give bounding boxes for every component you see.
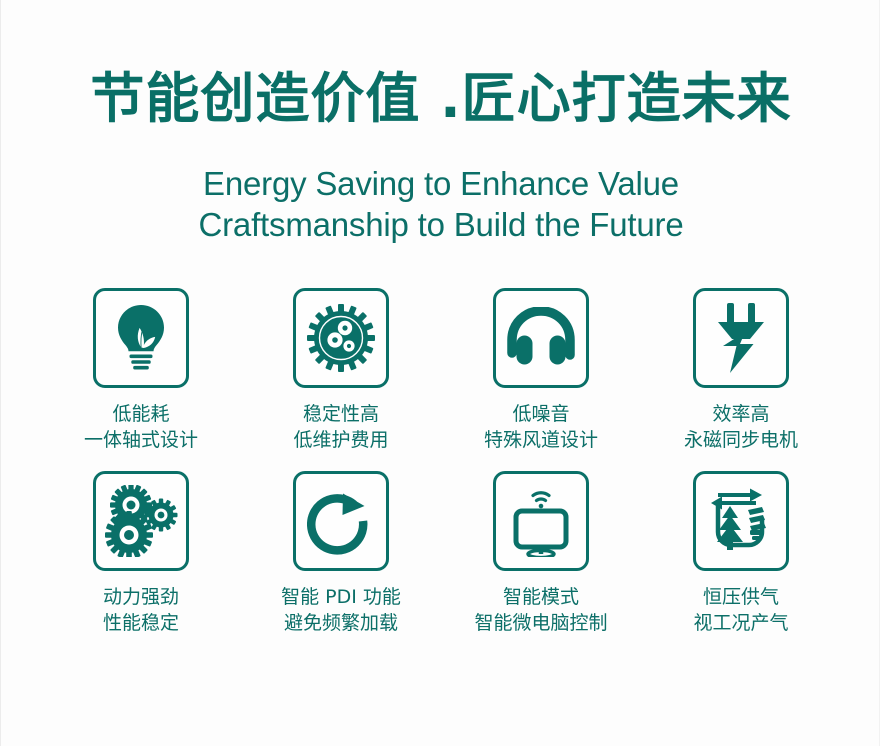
feature-item: 智能 PDI 功能 避免频繁加载 xyxy=(241,471,441,636)
icon-box xyxy=(693,288,789,388)
feature-label: 动力强劲 性能稳定 xyxy=(103,584,179,636)
icon-box xyxy=(93,471,189,571)
feature-label-line-1: 效率高 xyxy=(712,403,769,425)
feature-label-line-1: 动力强劲 xyxy=(103,586,179,608)
three-gears-icon xyxy=(103,485,179,557)
page-headline-chinese: 节能创造价值 .匠心打造未来 xyxy=(1,66,880,132)
feature-label-line-1: 智能 PDI 功能 xyxy=(281,586,401,608)
watermark-fragment xyxy=(739,14,751,24)
icon-box xyxy=(693,471,789,571)
feature-label-line-1: 低能耗 xyxy=(112,403,169,425)
refresh-circle-arrow-icon xyxy=(307,487,375,555)
lightbulb-leaf-icon xyxy=(110,303,172,373)
watermark-fragment xyxy=(235,14,247,24)
feature-label-line-2: 低维护费用 xyxy=(293,427,388,453)
feature-label: 稳定性高 低维护费用 xyxy=(293,401,388,453)
tree-cfl-bulb-cycle-icon xyxy=(706,484,776,558)
feature-label: 低噪音 特殊风道设计 xyxy=(484,401,598,453)
icon-box xyxy=(293,288,389,388)
feature-item: 动力强劲 性能稳定 xyxy=(41,471,241,636)
icon-box xyxy=(93,288,189,388)
watermark-fragment xyxy=(151,14,163,24)
headphones-icon xyxy=(506,307,576,369)
icon-box xyxy=(493,288,589,388)
feature-label: 低能耗 一体轴式设计 xyxy=(84,401,198,453)
headline-english-line-1: Energy Saving to Enhance Value xyxy=(1,163,880,204)
power-plug-lightning-icon xyxy=(710,302,772,374)
top-watermark-strip xyxy=(151,10,751,28)
feature-label: 效率高 永磁同步电机 xyxy=(684,401,798,453)
feature-label: 恒压供气 视工况产气 xyxy=(693,584,788,636)
feature-label: 智能 PDI 功能 避免频繁加载 xyxy=(281,584,401,636)
page-headline-english: Energy Saving to Enhance Value Craftsman… xyxy=(1,163,880,245)
feature-label-line-1: 稳定性高 xyxy=(303,403,379,425)
feature-label-line-2: 永磁同步电机 xyxy=(684,427,798,453)
watermark-fragment xyxy=(487,14,499,24)
watermark-fragment xyxy=(655,14,667,24)
icon-box xyxy=(293,471,389,571)
feature-label-line-1: 恒压供气 xyxy=(703,586,779,608)
feature-item: 低能耗 一体轴式设计 xyxy=(41,288,241,453)
feature-label-line-2: 避免频繁加载 xyxy=(281,610,401,636)
feature-item: 恒压供气 视工况产气 xyxy=(641,471,841,636)
headline-english-line-2: Craftsmanship to Build the Future xyxy=(1,204,880,245)
feature-label-line-2: 智能微电脑控制 xyxy=(474,610,607,636)
feature-label-line-1: 低噪音 xyxy=(512,403,569,425)
icon-box xyxy=(493,471,589,571)
feature-item: 低噪音 特殊风道设计 xyxy=(441,288,641,453)
monitor-wifi-icon xyxy=(508,485,574,557)
gear-cluster-icon xyxy=(307,304,375,372)
feature-label-line-2: 性能稳定 xyxy=(103,610,179,636)
feature-grid: 低能耗 一体轴式设计 xyxy=(41,288,841,636)
feature-label-line-2: 视工况产气 xyxy=(693,610,788,636)
feature-item: 稳定性高 低维护费用 xyxy=(241,288,441,453)
feature-item: 效率高 永磁同步电机 xyxy=(641,288,841,453)
feature-label-line-2: 特殊风道设计 xyxy=(484,427,598,453)
watermark-fragment xyxy=(319,14,331,24)
feature-label: 智能模式 智能微电脑控制 xyxy=(474,584,607,636)
feature-item: 智能模式 智能微电脑控制 xyxy=(441,471,641,636)
watermark-fragment xyxy=(571,14,583,24)
feature-label-line-2: 一体轴式设计 xyxy=(84,427,198,453)
watermark-fragment xyxy=(403,14,415,24)
feature-label-line-1: 智能模式 xyxy=(503,586,579,608)
